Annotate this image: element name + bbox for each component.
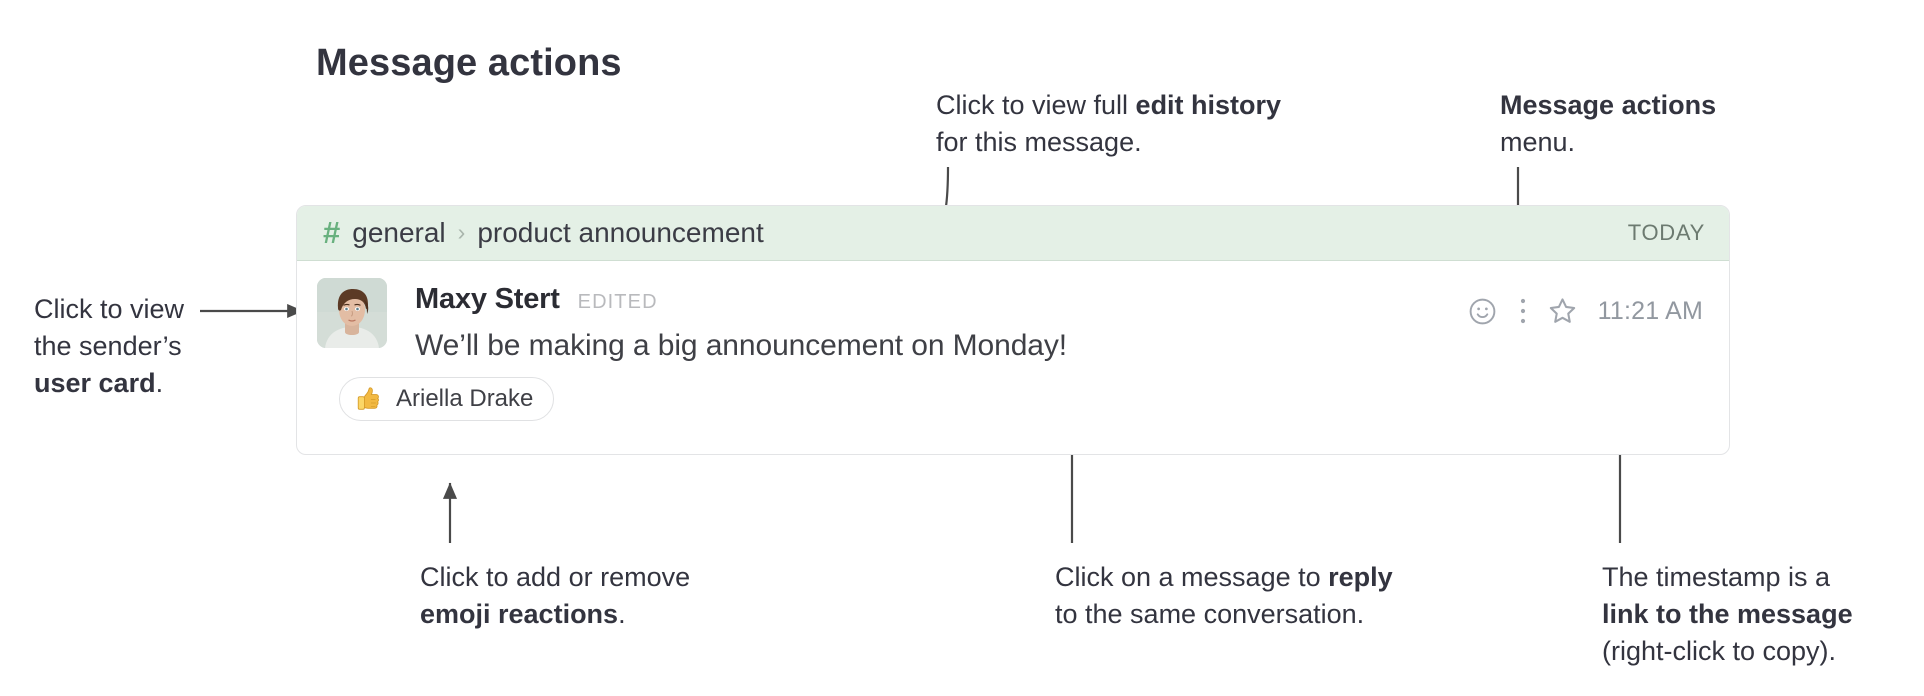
message-timestamp-link[interactable]: 11:21 AM [1598,297,1703,326]
message-card-body: Maxy Stert EDITED We’ll be making a big … [297,261,1729,454]
annotation-timestamp-bold: link to the message [1602,599,1853,629]
message-actions-annotated-diagram: Message actions Click to view full edit … [0,0,1924,696]
annotation-timestamp-line3: (right-click to copy). [1602,636,1836,666]
annotation-user-card-line2: the sender’s [34,331,182,361]
annotation-user-card-line1: Click to view [34,294,184,324]
message-card: # general › product announcement TODAY [296,205,1730,455]
message-body-text[interactable]: We’ll be making a big announcement on Mo… [415,329,1729,363]
reaction-user-name: Ariella Drake [396,385,533,413]
annotation-emoji-reactions: Click to add or remove emoji reactions. [420,559,760,633]
page-title: Message actions [316,42,622,85]
annotation-user-card-bold: user card [34,368,156,398]
sender-name[interactable]: Maxy Stert [415,283,560,316]
annotation-reply-pre: Click on a message to [1055,562,1328,592]
topic-name-link[interactable]: product announcement [477,217,763,249]
star-message-button[interactable] [1540,291,1586,331]
annotation-timestamp: The timestamp is a link to the message (… [1602,559,1924,670]
annotation-edit-history-text-pre: Click to view full [936,90,1136,120]
annotation-reply-bold: reply [1328,562,1393,592]
thumbs-up-emoji-icon [354,384,384,414]
date-label: TODAY [1628,220,1705,246]
annotation-emoji-period: . [618,599,626,629]
annotation-edit-history-text-bold: edit history [1136,90,1282,120]
message-actions-group: 11:21 AM [1460,291,1703,331]
annotation-actions-menu-line2: menu. [1500,127,1575,157]
annotation-edit-history-text-line2: for this message. [936,127,1142,157]
add-reaction-button[interactable] [1460,291,1506,331]
reaction-pill[interactable]: Ariella Drake [339,377,554,421]
annotation-actions-menu-bold: Message actions [1500,90,1716,120]
annotation-user-card: Click to view the sender’s user card. [34,291,274,402]
annotation-timestamp-line1: The timestamp is a [1602,562,1830,592]
annotation-user-card-period: . [156,368,164,398]
annotation-reply: Click on a message to reply to the same … [1055,559,1455,633]
edited-badge[interactable]: EDITED [578,291,658,314]
annotation-emoji-line1: Click to add or remove [420,562,690,592]
annotation-reply-line2: to the same conversation. [1055,599,1364,629]
stream-name-link[interactable]: general [352,217,445,249]
breadcrumb-chevron-icon: › [458,219,466,246]
annotation-emoji-bold: emoji reactions [420,599,618,629]
hash-icon: # [323,217,340,248]
annotation-edit-history: Click to view full edit history for this… [936,87,1356,161]
avatar[interactable] [317,278,387,348]
message-actions-menu-button[interactable] [1506,291,1540,331]
message-card-header: # general › product announcement TODAY [297,206,1729,261]
annotation-actions-menu: Message actions menu. [1500,87,1800,161]
